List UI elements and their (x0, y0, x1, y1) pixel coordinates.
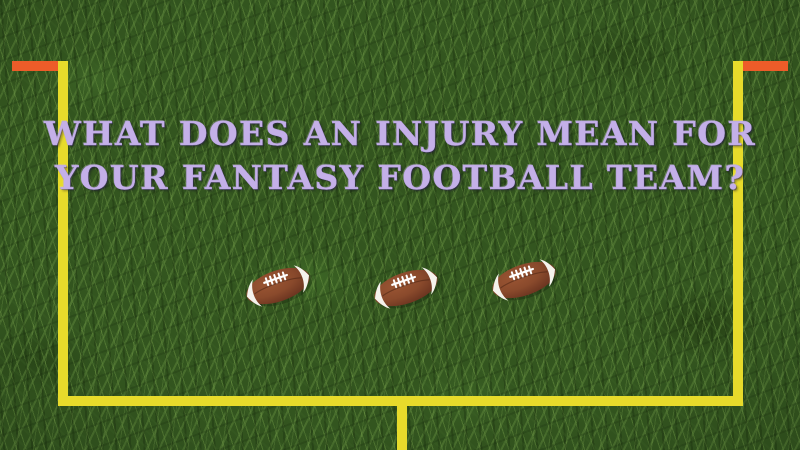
goalpost-center-stem (397, 406, 407, 450)
left-upright (58, 61, 68, 406)
right-pylon-icon (741, 61, 788, 71)
right-upright (733, 61, 743, 406)
poster-canvas: What Does an Injury Mean For Your Fantas… (0, 0, 800, 450)
goalpost-crossbar (58, 396, 743, 406)
left-pylon-icon (12, 61, 60, 71)
football-goal-post (0, 0, 800, 450)
